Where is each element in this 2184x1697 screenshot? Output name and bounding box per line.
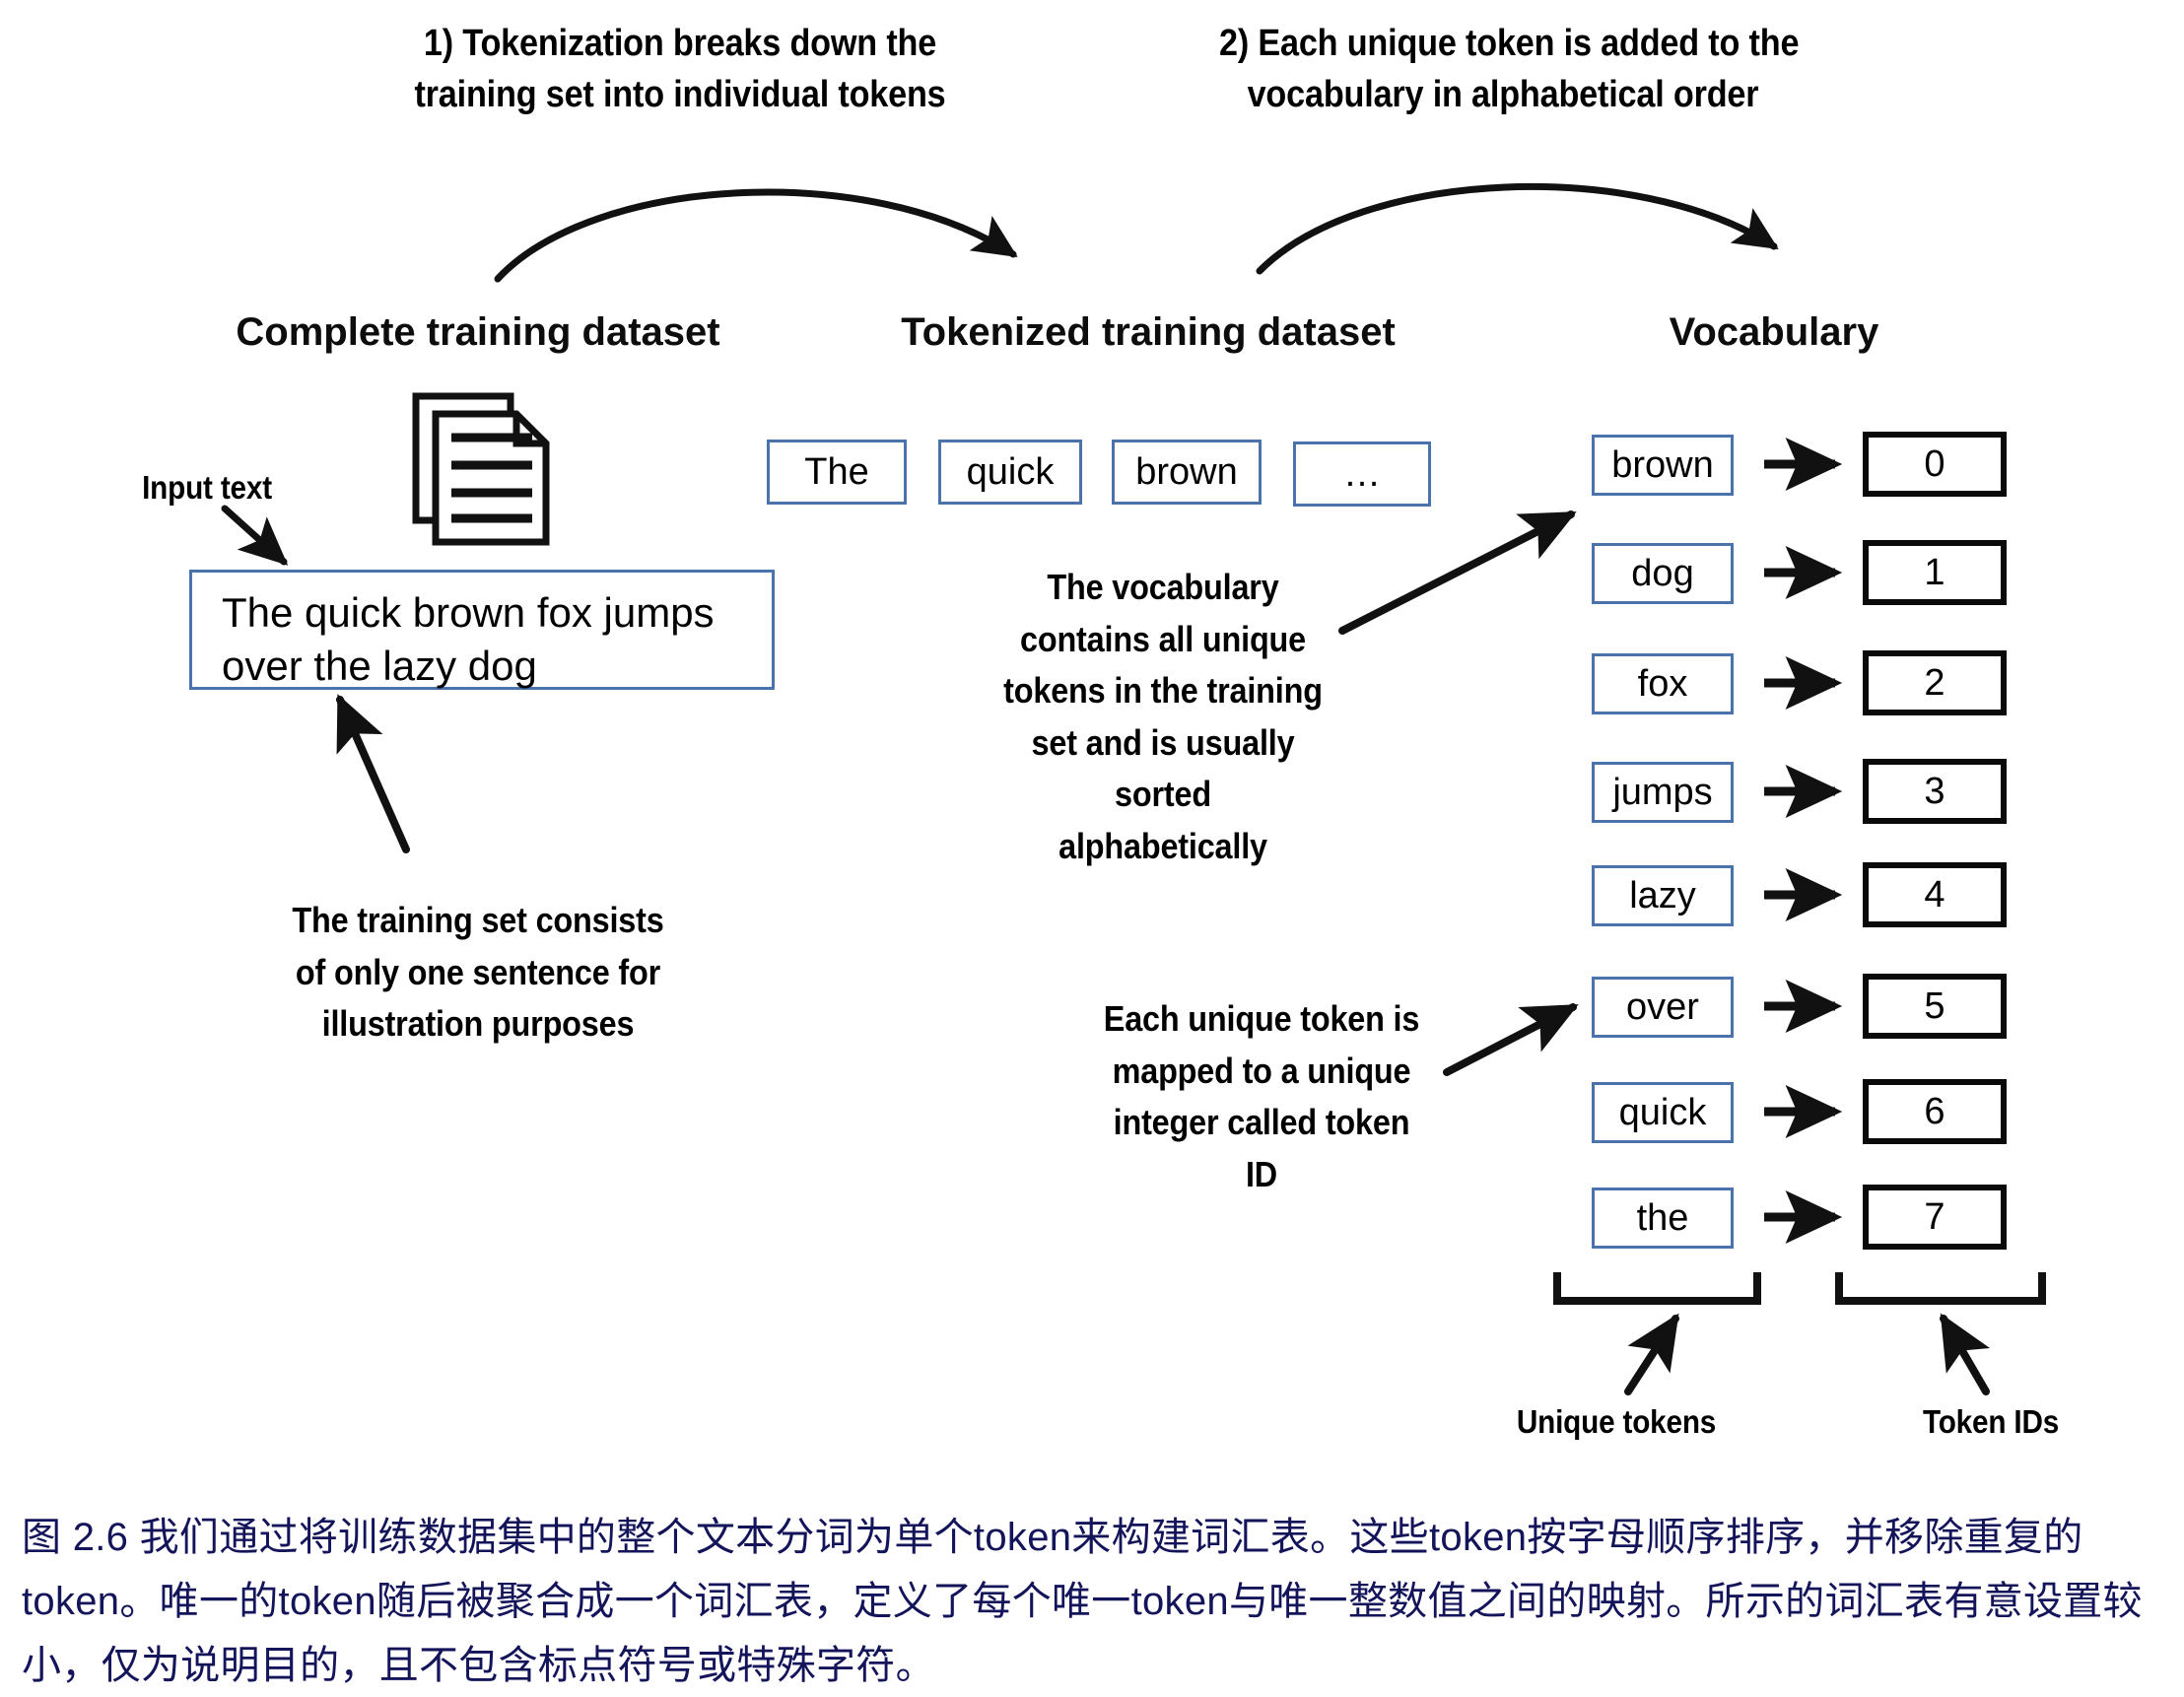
heading-complete-training-dataset: Complete training dataset	[128, 310, 828, 355]
token-id-note-line-1: Each unique token is	[1089, 993, 1435, 1046]
input-text-label: Input text	[109, 465, 305, 511]
vocab-id-box-2: 2	[1863, 650, 2007, 715]
vocab-id-box-0: 0	[1863, 432, 2007, 497]
step-1-line-2: training set into individual tokens	[405, 69, 955, 120]
step-1-annotation: 1) Tokenization breaks down the training…	[405, 18, 955, 121]
token-box-0: The	[767, 440, 907, 505]
training-set-note-arrow	[340, 700, 406, 849]
unique-tokens-bracket	[1557, 1276, 1757, 1301]
figure-caption: 图 2.6 我们通过将训练数据集中的整个文本分词为单个token来构建词汇表。这…	[22, 1506, 2160, 1697]
step-1-line-1: 1) Tokenization breaks down the	[405, 18, 955, 69]
heading-tokenized-training-dataset: Tokenized training dataset	[788, 310, 1508, 355]
vocab-token-box-5: over	[1592, 977, 1734, 1038]
token-id-note: Each unique token is mapped to a unique …	[1089, 993, 1435, 1200]
vocab-note-line-6: alphabetically	[990, 821, 1336, 873]
vocab-id-box-1: 1	[1863, 540, 2007, 605]
token-id-note-line-2: mapped to a unique	[1089, 1046, 1435, 1098]
token-ids-label-arrow	[1944, 1319, 1986, 1392]
vocab-id-box-6: 6	[1863, 1079, 2007, 1144]
vocab-token-box-0: brown	[1592, 435, 1734, 496]
vocabulary-sorted-note: The vocabulary contains all unique token…	[990, 562, 1336, 872]
input-text-pointer-arrow	[225, 509, 284, 562]
curved-arrow-step-2	[1260, 186, 1774, 271]
training-set-note-line-2: of only one sentence for	[270, 947, 687, 999]
vocab-note-line-4: set and is usually	[990, 717, 1336, 770]
step-2-annotation: 2) Each unique token is added to the voc…	[1219, 18, 1787, 121]
vocab-token-box-4: lazy	[1592, 865, 1734, 926]
unique-tokens-label: Unique tokens	[1483, 1399, 1749, 1446]
document-stack-icon	[412, 392, 560, 550]
token-id-note-line-3: integer called token	[1089, 1097, 1435, 1149]
figure-canvas: 1) Tokenization breaks down the training…	[0, 0, 2184, 1697]
token-box-1: quick	[938, 440, 1082, 505]
vocab-id-box-4: 4	[1863, 862, 2007, 927]
step-2-line-2: vocabulary in alphabetical order	[1219, 69, 1787, 120]
vocab-note-line-1: The vocabulary	[990, 562, 1336, 614]
vocab-token-box-7: the	[1592, 1188, 1734, 1249]
token-box-3: …	[1293, 441, 1431, 507]
training-set-note-line-3: illustration purposes	[270, 998, 687, 1051]
vocab-note-line-3: tokens in the training	[990, 665, 1336, 717]
vocab-id-box-5: 5	[1863, 974, 2007, 1039]
token-id-note-line-4: ID	[1089, 1149, 1435, 1201]
token-ids-bracket	[1839, 1276, 2042, 1301]
vocab-token-box-1: dog	[1592, 543, 1734, 604]
token-ids-label: Token IDs	[1858, 1399, 2124, 1446]
unique-tokens-label-arrow	[1628, 1319, 1675, 1392]
vocab-token-box-3: jumps	[1592, 762, 1734, 823]
vocab-token-box-6: quick	[1592, 1082, 1734, 1143]
vocab-id-box-3: 3	[1863, 759, 2007, 824]
training-set-note-line-1: The training set consists	[270, 895, 687, 947]
step-2-line-1: 2) Each unique token is added to the	[1219, 18, 1787, 69]
vocab-id-box-7: 7	[1863, 1185, 2007, 1250]
vocab-note-line-5: sorted	[990, 769, 1336, 821]
vocabulary-note-arrow	[1342, 514, 1571, 631]
vocab-note-line-2: contains all unique	[990, 614, 1336, 666]
input-text-box: The quick brown fox jumps over the lazy …	[189, 570, 775, 690]
vocab-token-box-2: fox	[1592, 653, 1734, 714]
token-box-2: brown	[1112, 440, 1262, 505]
training-set-note: The training set consists of only one se…	[270, 895, 687, 1051]
curved-arrow-step-1	[498, 192, 1013, 279]
heading-vocabulary: Vocabulary	[1547, 310, 2001, 355]
token-id-note-arrow	[1447, 1007, 1573, 1072]
